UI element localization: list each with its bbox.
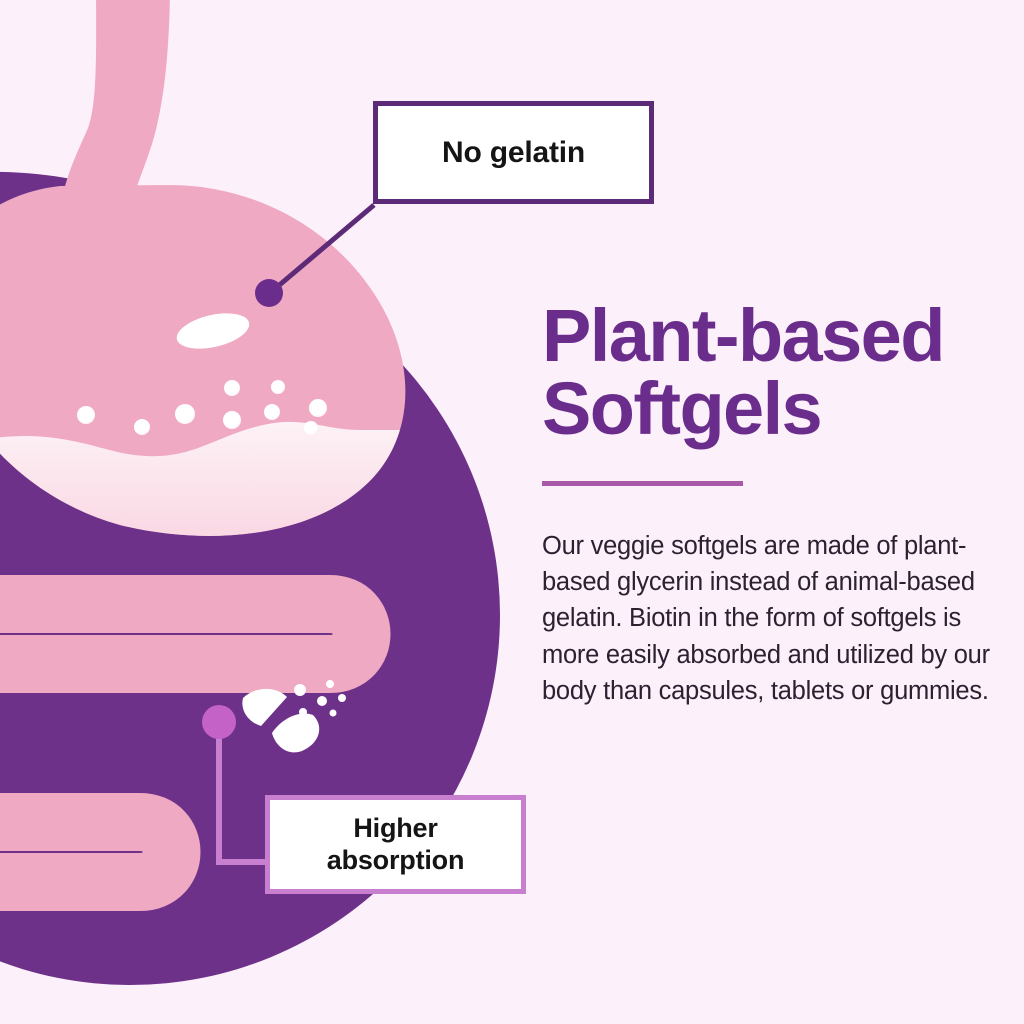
granule <box>299 708 307 716</box>
bubble <box>304 421 318 435</box>
bubble <box>224 380 240 396</box>
callout-no-gelatin[interactable]: No gelatin <box>373 101 654 204</box>
bubble <box>134 419 150 435</box>
callout-higher-absorption-label: Higher absorption <box>327 813 465 877</box>
granule <box>294 684 306 696</box>
page-title-line1: Plant-based <box>542 294 944 377</box>
granule <box>317 696 327 706</box>
page-title: Plant-based Softgels <box>542 300 997 445</box>
callout-no-gelatin-label: No gelatin <box>442 136 585 170</box>
body-paragraph: Our veggie softgels are made of plant-ba… <box>542 528 997 709</box>
bubble <box>77 406 95 424</box>
connector-dot-higher-absorption <box>202 705 236 739</box>
page-title-line2: Softgels <box>542 367 821 450</box>
callout-higher-absorption-line2: absorption <box>327 845 465 875</box>
connector-dot-no-gelatin <box>255 279 283 307</box>
callout-higher-absorption[interactable]: Higher absorption <box>265 795 526 894</box>
granule <box>330 710 337 717</box>
bubble <box>175 404 195 424</box>
bubble <box>309 399 327 417</box>
granule <box>326 680 334 688</box>
granule <box>338 694 346 702</box>
infographic-canvas: No gelatin Higher absorption Plant-based… <box>0 0 1024 1024</box>
callout-higher-absorption-line1: Higher <box>353 813 437 843</box>
bubble <box>271 380 285 394</box>
text-column: Plant-based Softgels Our veggie softgels… <box>542 300 997 709</box>
bubble <box>264 404 280 420</box>
bubble <box>223 411 241 429</box>
divider <box>542 481 743 486</box>
